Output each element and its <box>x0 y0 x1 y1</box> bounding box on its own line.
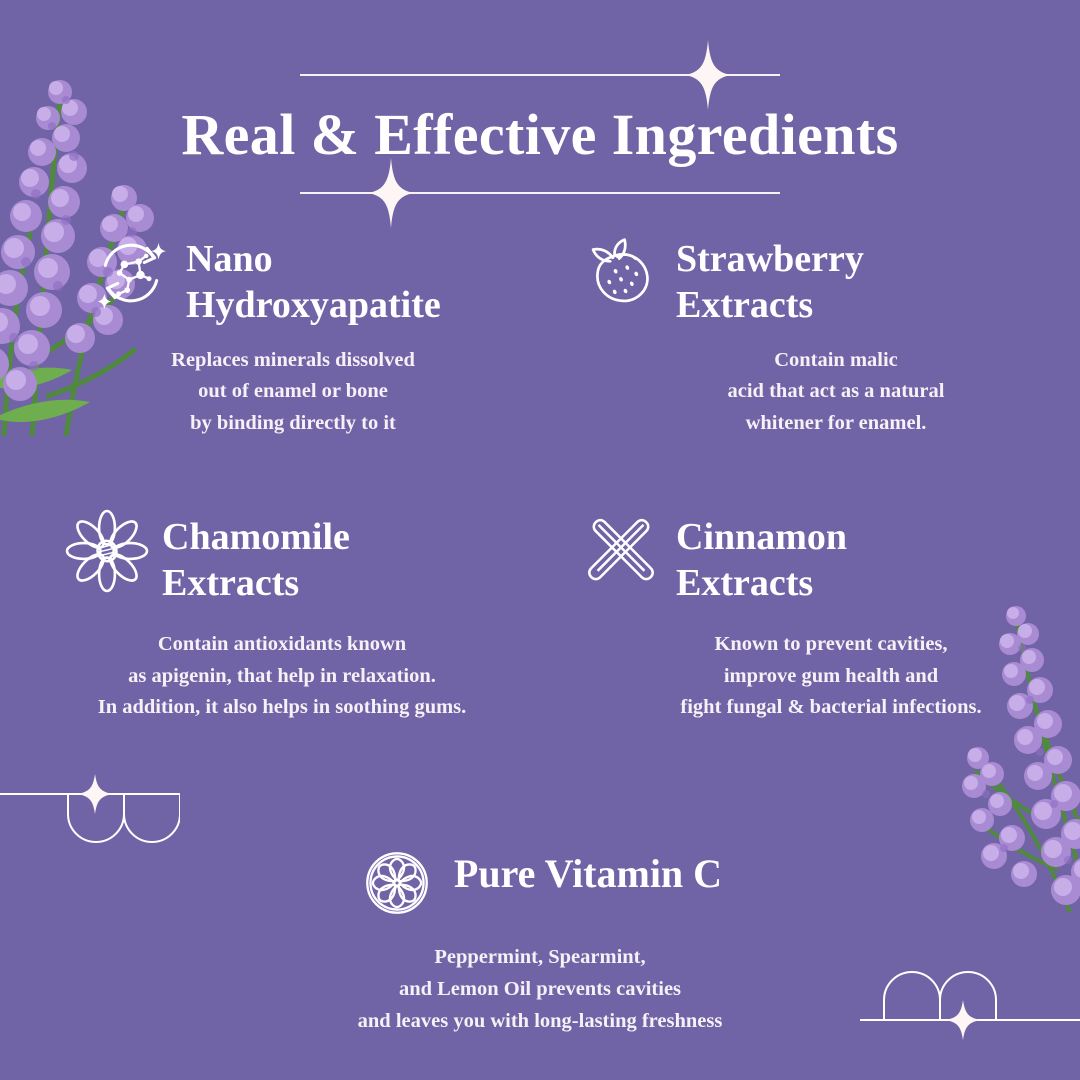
strawberry-icon <box>582 232 660 314</box>
sparkle-icon <box>368 158 414 228</box>
ingredient-description: Replaces minerals dissolved out of ename… <box>46 345 540 440</box>
double-arch-ornament-left <box>0 770 180 852</box>
ingredient-card-cinnamon-extracts: Cinnamon Extracts Known to prevent cavit… <box>540 510 1080 724</box>
chamomile-flower-icon <box>68 510 146 592</box>
ingredient-card-pure-vitamin-c: Pure Vitamin C Peppermint, Spearmint, an… <box>0 842 1080 1037</box>
ingredient-description: Contain antioxidants known as apigenin, … <box>24 629 540 724</box>
ingredients-infographic: Real & Effective Ingredients <box>0 0 1080 1080</box>
ingredient-card-nano-hydroxyapatite: Nano Hydroxyapatite Replaces minerals di… <box>0 232 540 440</box>
ingredient-title: Chamomile Extracts <box>162 510 350 607</box>
ingredient-description: Contain malic acid that act as a natural… <box>592 345 1080 440</box>
ingredient-title: Strawberry Extracts <box>676 232 864 329</box>
sparkle-icon <box>685 40 731 110</box>
ingredient-card-chamomile-extracts: Chamomile Extracts Contain antioxidants … <box>0 510 540 724</box>
molecule-cycle-icon <box>92 232 170 314</box>
title-rule-bottom <box>300 170 780 216</box>
citrus-slice-icon <box>358 842 436 924</box>
ingredient-card-strawberry-extracts: Strawberry Extracts Contain malic acid t… <box>540 232 1080 440</box>
title-rule-top <box>300 52 780 98</box>
ingredient-description: Known to prevent cavities, improve gum h… <box>582 629 1080 724</box>
cinnamon-sticks-icon <box>582 510 660 592</box>
ingredient-grid: Nano Hydroxyapatite Replaces minerals di… <box>0 232 1080 724</box>
header: Real & Effective Ingredients <box>0 52 1080 216</box>
ingredient-title: Cinnamon Extracts <box>676 510 847 607</box>
ingredient-title: Nano Hydroxyapatite <box>186 232 441 329</box>
sparkle-icon <box>77 774 113 814</box>
page-title: Real & Effective Ingredients <box>0 106 1080 164</box>
ingredient-description: Peppermint, Spearmint, and Lemon Oil pre… <box>0 942 1080 1037</box>
ingredient-title: Pure Vitamin C <box>454 842 722 899</box>
